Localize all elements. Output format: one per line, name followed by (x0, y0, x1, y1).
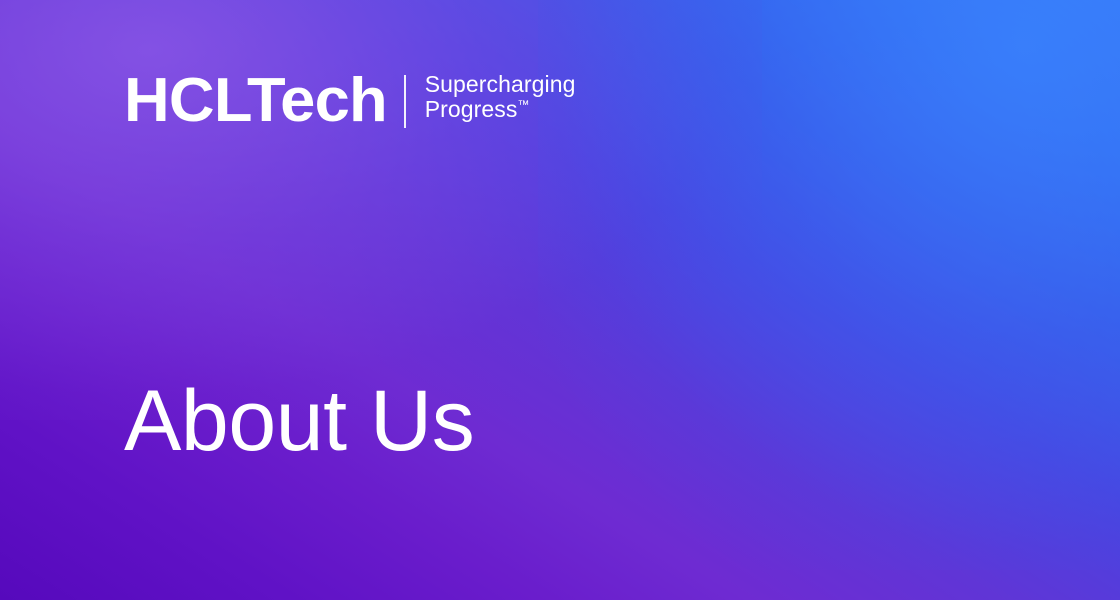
page-title: About Us (124, 376, 474, 466)
hcltech-logo-wordmark[interactable]: HCLTech (124, 70, 387, 132)
brand-tagline: Supercharging Progress™ (425, 72, 576, 122)
tagline-line-2-text: Progress (425, 96, 518, 122)
tagline-line-2: Progress™ (425, 97, 576, 122)
slide-content: HCLTech Supercharging Progress™ About Us (0, 0, 1120, 600)
brand-lockup[interactable]: HCLTech Supercharging Progress™ (124, 70, 576, 132)
brand-divider-rule (404, 75, 406, 128)
trademark-icon: ™ (518, 97, 530, 111)
tagline-line-1: Supercharging (425, 72, 576, 97)
title-slide: HCLTech Supercharging Progress™ About Us (0, 0, 1120, 600)
